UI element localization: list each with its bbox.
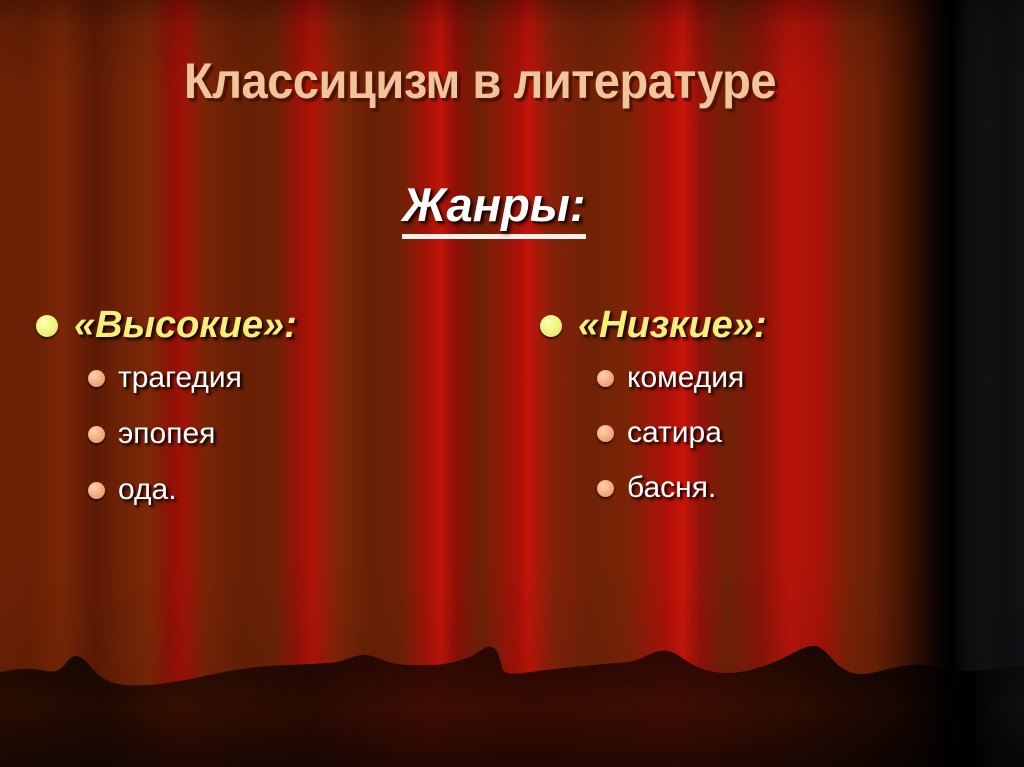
list-item: ода.: [88, 473, 506, 507]
yellow-dot-bullet-icon: [36, 315, 58, 337]
genre-group-label-high: «Высокие»:: [74, 304, 297, 347]
genre-list-low: комедия сатира басня.: [540, 361, 980, 505]
peach-dot-bullet-icon: [597, 480, 614, 497]
peach-dot-bullet-icon: [597, 425, 614, 442]
presentation-slide: Классицизм в литературе Жанры: «Высокие»…: [0, 0, 1024, 767]
genre-group-heading-low: «Низкие»:: [540, 304, 980, 347]
peach-dot-bullet-icon: [88, 482, 105, 499]
slide-subtitle-container: Жанры:: [0, 178, 1024, 239]
yellow-dot-bullet-icon: [540, 315, 562, 337]
list-item: трагедия: [88, 361, 506, 395]
peach-dot-bullet-icon: [88, 426, 105, 443]
genre-column-high: «Высокие»: трагедия эпопея ода.: [36, 304, 506, 529]
peach-dot-bullet-icon: [88, 370, 105, 387]
peach-dot-bullet-icon: [597, 370, 614, 387]
genre-item-label: комедия: [627, 361, 744, 395]
slide-title: Классицизм в литературе: [29, 52, 931, 110]
genre-group-label-low: «Низкие»:: [578, 304, 767, 347]
list-item: сатира: [597, 416, 980, 450]
genre-group-heading-high: «Высокие»:: [36, 304, 506, 347]
genre-list-high: трагедия эпопея ода.: [36, 361, 506, 507]
list-item: эпопея: [88, 417, 506, 451]
slide-subtitle: Жанры:: [402, 178, 585, 239]
list-item: комедия: [597, 361, 980, 395]
genre-item-label: трагедия: [118, 361, 242, 395]
list-item: басня.: [597, 471, 980, 505]
genre-item-label: ода.: [118, 473, 177, 507]
genre-column-low: «Низкие»: комедия сатира басня.: [540, 304, 980, 526]
genre-item-label: эпопея: [118, 417, 215, 451]
genre-item-label: басня.: [627, 471, 716, 505]
genre-item-label: сатира: [627, 416, 722, 450]
